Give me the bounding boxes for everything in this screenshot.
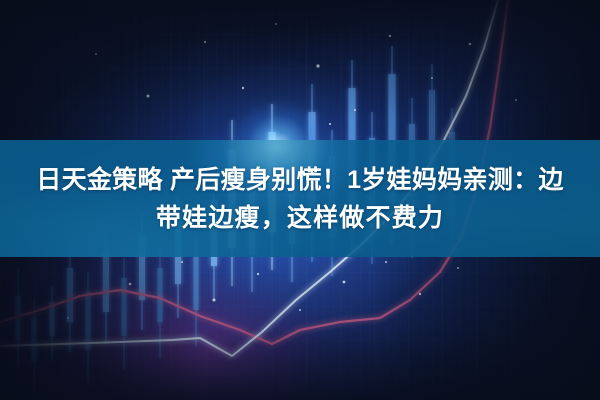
sparkle-dot [385, 261, 387, 263]
headline-band [0, 140, 600, 257]
sparkle-dot [95, 53, 97, 55]
sparkle-dot [181, 261, 183, 263]
candlestick-body [86, 292, 91, 350]
sparkle-dot [515, 99, 517, 101]
sparkle-dot [431, 77, 433, 79]
candlestick-body [32, 318, 37, 362]
sparkle-dot [257, 273, 259, 275]
candlestick-body [158, 268, 163, 322]
candlestick-body [122, 278, 127, 336]
sparkle-dot [389, 35, 391, 37]
candlestick-body [194, 256, 199, 310]
sparkle-dot [67, 317, 69, 319]
candlestick-body [103, 252, 109, 312]
sparkle-dot [469, 43, 472, 46]
sparkle-dot [242, 87, 244, 89]
sparkle-dot [316, 64, 319, 67]
sparkle-dot [457, 267, 459, 269]
sparkle-dot [354, 109, 356, 111]
sparkle-dot [329, 123, 331, 125]
sparkle-dot [129, 283, 132, 286]
banner-image: 日天金策略 产后瘦身别慌！1岁娃妈妈亲测：边 带娃边瘦，这样做不费力 [0, 0, 600, 400]
sparkle-dot [275, 23, 277, 25]
sparkle-dot [147, 95, 150, 98]
sparkle-dot [343, 281, 346, 284]
candlestick-body [67, 268, 73, 322]
sparkle-dot [204, 41, 206, 43]
sparkle-dot [213, 299, 216, 302]
sparkle-dot [299, 309, 301, 311]
sparkle-dot [419, 293, 421, 295]
